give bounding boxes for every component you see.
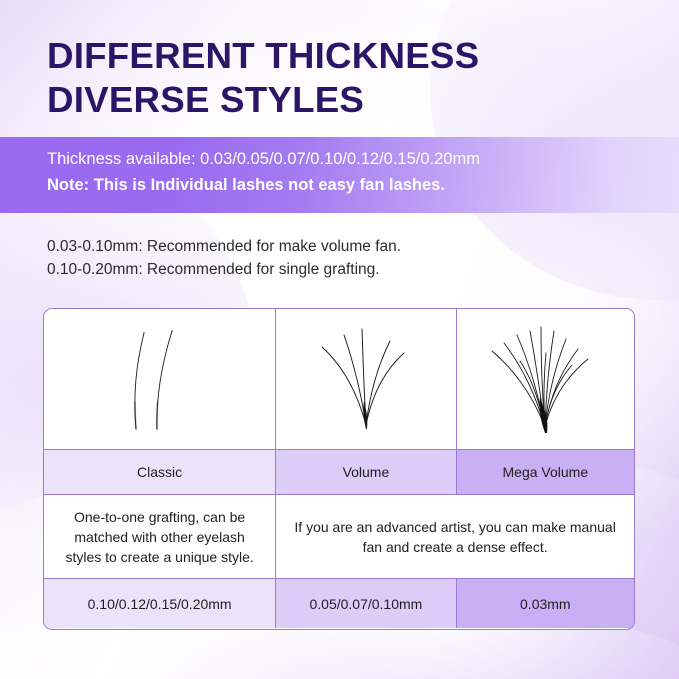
style-label-mega-volume: Mega Volume xyxy=(456,450,634,494)
recommendation-volume-fan: 0.03-0.10mm: Recommended for make volume… xyxy=(47,238,401,256)
description-text-classic: One-to-one grafting, can be matched with… xyxy=(44,507,275,567)
thickness-value-volume: 0.05/0.07/0.10mm xyxy=(275,579,455,628)
description-cell-classic: One-to-one grafting, can be matched with… xyxy=(44,495,275,578)
volume-fan-illustration xyxy=(276,309,455,449)
table-row-style-labels: Classic Volume Mega Volume xyxy=(44,449,634,494)
classic-lashes-illustration xyxy=(44,309,275,449)
table-row-thickness-values: 0.10/0.12/0.15/0.20mm 0.05/0.07/0.10mm 0… xyxy=(44,578,634,628)
illustration-cell-mega-volume xyxy=(456,309,634,449)
style-label-volume: Volume xyxy=(275,450,455,494)
page-title-line-2: DIVERSE STYLES xyxy=(47,78,659,122)
illustration-cell-volume xyxy=(275,309,455,449)
banner-note: Note: This is Individual lashes not easy… xyxy=(47,176,445,195)
description-cell-volume-mega: If you are an advanced artist, you can m… xyxy=(275,495,634,578)
thickness-value-mega-volume: 0.03mm xyxy=(456,579,634,628)
thickness-banner: Thickness available: 0.03/0.05/0.07/0.10… xyxy=(0,137,679,213)
banner-thickness-available: Thickness available: 0.03/0.05/0.07/0.10… xyxy=(47,150,480,169)
table-row-illustrations xyxy=(44,309,634,449)
recommendation-single-grafting: 0.10-0.20mm: Recommended for single graf… xyxy=(47,261,380,279)
lash-style-comparison-table: Classic Volume Mega Volume One-to-one gr… xyxy=(43,308,635,630)
illustration-cell-classic xyxy=(44,309,275,449)
description-text-volume-mega: If you are an advanced artist, you can m… xyxy=(276,517,634,557)
page-title: DIFFERENT THICKNESS DIVERSE STYLES xyxy=(47,34,659,122)
mega-volume-fan-illustration xyxy=(457,309,634,449)
table-row-descriptions: One-to-one grafting, can be matched with… xyxy=(44,494,634,578)
style-label-classic: Classic xyxy=(44,450,275,494)
page-title-line-1: DIFFERENT THICKNESS xyxy=(47,34,659,78)
poster: DIFFERENT THICKNESS DIVERSE STYLES Thick… xyxy=(0,0,679,679)
thickness-value-classic: 0.10/0.12/0.15/0.20mm xyxy=(44,579,275,628)
